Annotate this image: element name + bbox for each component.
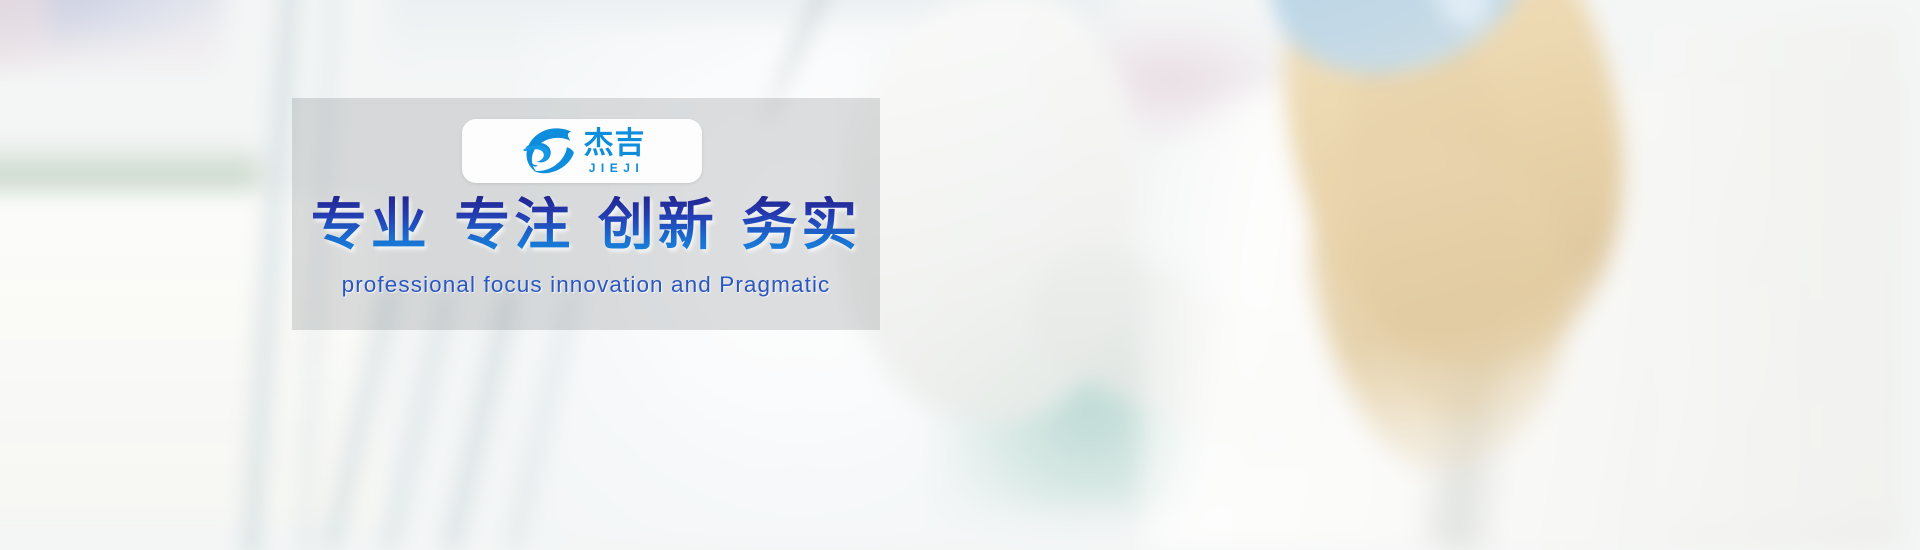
logo-wordmark: 杰吉 JIEJI [584,129,646,174]
bg-lab-coat-right [1650,20,1900,520]
brand-logo[interactable]: 杰吉 JIEJI [462,119,702,183]
logo-latin-name: JIEJI [589,162,645,174]
logo-chinese-name: 杰吉 [584,129,646,159]
subheadline: professional focus innovation and Pragma… [292,272,880,298]
headline: 专业 专注 创新 务实 [292,196,880,256]
jieji-swoosh-icon [519,126,575,176]
hero-banner: 杰吉 JIEJI 专业 专注 创新 务实 professional focus … [0,0,1920,550]
background-photo [0,0,1920,550]
bg-wall-poster-second [50,0,230,40]
